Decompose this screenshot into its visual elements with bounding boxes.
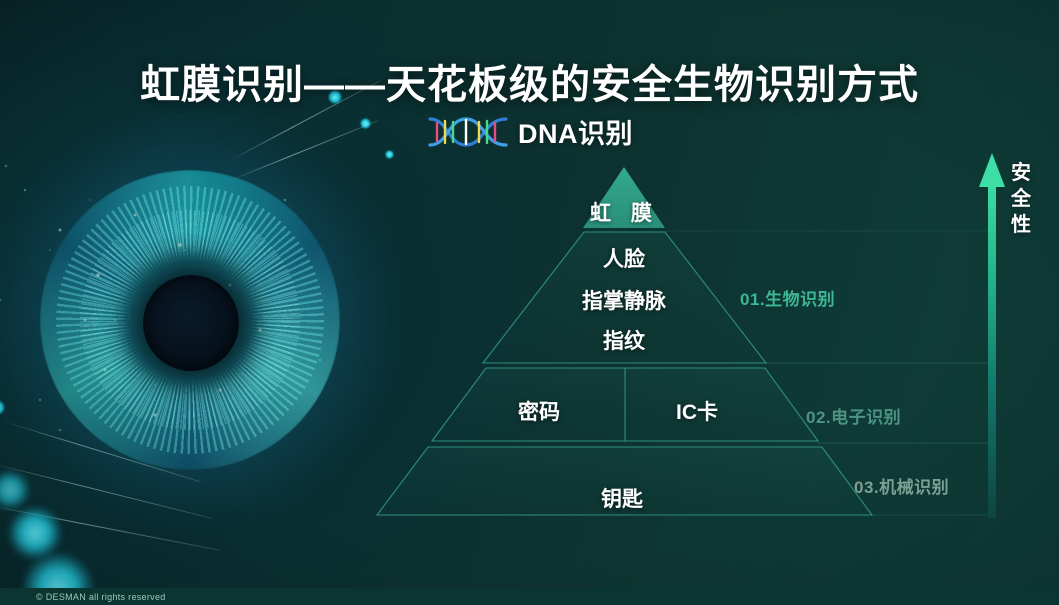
tier-side-label-03: 03.机械识别	[854, 473, 949, 498]
pyramid-item-fingerprint: 指纹	[603, 325, 645, 355]
security-pyramid: 虹 膜 人脸 指掌静脉 指纹 密码 IC卡 钥匙 01.生物识别 02.电子识别…	[0, 0, 1059, 605]
axis-char-2: 全	[1006, 186, 1036, 212]
pyramid-apex-label: 虹 膜	[590, 197, 659, 227]
pyramid-item-face: 人脸	[603, 243, 645, 273]
tier-side-label-01: 01.生物识别	[740, 285, 835, 310]
pyramid-item-key: 钥匙	[601, 483, 643, 513]
security-axis-arrow	[979, 153, 1005, 518]
pyramid-item-password: 密码	[518, 396, 560, 426]
pyramid-item-ic-card: IC卡	[676, 396, 718, 426]
pyramid-item-finger-palm-vein: 指掌静脉	[582, 285, 666, 315]
tier-side-label-02: 02.电子识别	[806, 403, 901, 428]
security-axis-label: 安 全 性	[1006, 160, 1036, 238]
axis-char-1: 安	[1006, 160, 1036, 186]
slide-canvas: 虹膜识别——天花板级的安全生物识别方式 DNA识别	[0, 0, 1059, 605]
axis-char-3: 性	[1006, 212, 1036, 238]
footer-copyright: © DESMAN all rights reserved	[36, 592, 166, 602]
